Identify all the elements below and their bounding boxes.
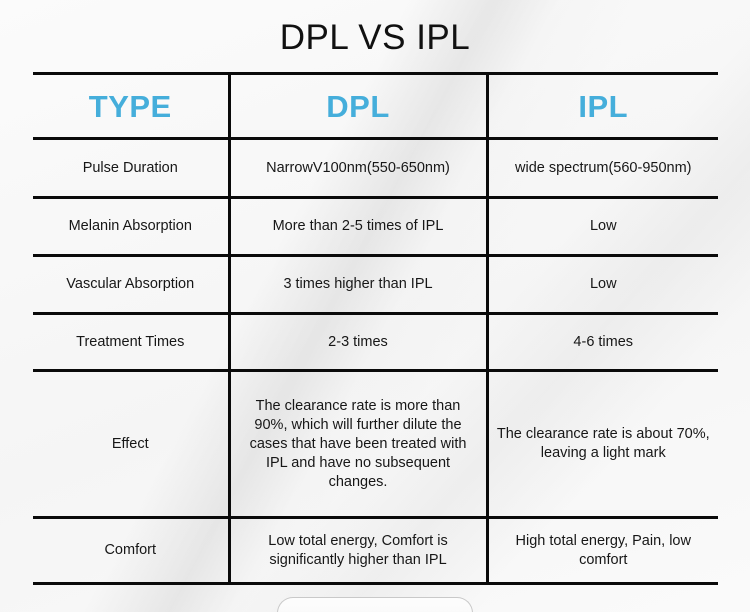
page-root: DPL VS IPL TYPE DPL IPL Pulse Duration N…: [0, 0, 750, 612]
table-row: Comfort Low total energy, Comfort is sig…: [33, 518, 718, 584]
row-label-vascular-absorption: Vascular Absorption: [33, 256, 229, 314]
row-label-melanin-absorption: Melanin Absorption: [33, 198, 229, 256]
row-label-pulse-duration: Pulse Duration: [33, 139, 229, 198]
table-row: Vascular Absorption 3 times higher than …: [33, 256, 718, 314]
table-header-row: TYPE DPL IPL: [33, 74, 718, 139]
table-row: Pulse Duration NarrowV100nm(550-650nm) w…: [33, 139, 718, 198]
table-row: Melanin Absorption More than 2-5 times o…: [33, 198, 718, 256]
cell-dpl-comfort: Low total energy, Comfort is significant…: [229, 518, 487, 584]
cell-ipl-treatment-times: 4-6 times: [487, 314, 718, 371]
cell-dpl-treatment-times: 2-3 times: [229, 314, 487, 371]
product-edge-decoration: [277, 597, 473, 612]
cell-ipl-effect: The clearance rate is about 70%, leaving…: [487, 371, 718, 518]
table-row: Effect The clearance rate is more than 9…: [33, 371, 718, 518]
cell-ipl-vascular-absorption: Low: [487, 256, 718, 314]
page-title: DPL VS IPL: [0, 16, 750, 60]
header-cell-type: TYPE: [33, 74, 229, 139]
row-label-effect: Effect: [33, 371, 229, 518]
cell-dpl-effect: The clearance rate is more than 90%, whi…: [229, 371, 487, 518]
cell-dpl-vascular-absorption: 3 times higher than IPL: [229, 256, 487, 314]
header-cell-dpl: DPL: [229, 74, 487, 139]
comparison-table: TYPE DPL IPL Pulse Duration NarrowV100nm…: [33, 72, 718, 585]
table-row: Treatment Times 2-3 times 4-6 times: [33, 314, 718, 371]
cell-ipl-comfort: High total energy, Pain, low comfort: [487, 518, 718, 584]
header-cell-ipl: IPL: [487, 74, 718, 139]
row-label-comfort: Comfort: [33, 518, 229, 584]
cell-dpl-pulse-duration: NarrowV100nm(550-650nm): [229, 139, 487, 198]
cell-dpl-melanin-absorption: More than 2-5 times of IPL: [229, 198, 487, 256]
cell-ipl-pulse-duration: wide spectrum(560-950nm): [487, 139, 718, 198]
row-label-treatment-times: Treatment Times: [33, 314, 229, 371]
cell-ipl-melanin-absorption: Low: [487, 198, 718, 256]
